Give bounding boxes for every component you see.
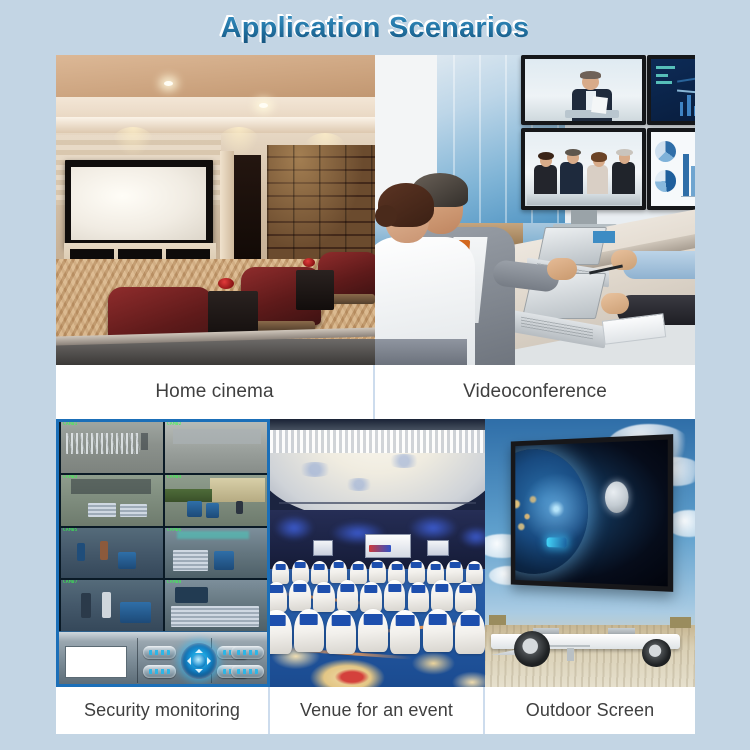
scenario-image-security-monitoring[interactable]: CAM01 CAM02 (56, 419, 270, 687)
cctv-timestamp: CAM06 (167, 529, 182, 534)
ceiling-medallion (386, 454, 422, 468)
caption-row-top: Home cinema Videoconference (56, 365, 695, 419)
screen-remote-group (525, 132, 642, 206)
seat-sign (364, 585, 377, 593)
seat-sign (411, 562, 422, 568)
moon-graphic (605, 481, 629, 513)
scenario-row-top (56, 55, 695, 365)
scenario-image-home-cinema[interactable] (56, 55, 375, 365)
banquet-chair (326, 610, 356, 654)
videoconference-photo (375, 55, 695, 365)
outdoor-screen-photo (485, 419, 695, 687)
monitor-bezel (56, 419, 270, 687)
cctv-timestamp: CAM04 (167, 476, 182, 481)
attendee-torso (587, 165, 608, 196)
ceiling-medallion (343, 478, 375, 491)
attendee-hair (616, 149, 632, 156)
seat-sign (450, 562, 461, 568)
seat-sign (270, 585, 283, 593)
chart-axis (681, 196, 695, 197)
seat-sign (295, 562, 306, 568)
banquet-chair (408, 560, 425, 583)
banquet-chair (311, 561, 328, 584)
cctv-timestamp: CAM08 (167, 581, 182, 586)
seat-sign (275, 564, 286, 570)
screen-presenter (525, 59, 642, 121)
scenario-image-venue-for-an-event[interactable] (270, 419, 485, 687)
security-monitoring-photo: CAM01 CAM02 (56, 419, 270, 687)
banquet-chair (289, 580, 311, 611)
caption-venue-for-an-event: Venue for an event (270, 687, 485, 734)
laptop-screen-highlight (593, 231, 615, 243)
banquet-chair (337, 580, 359, 611)
projection-screen (71, 167, 206, 240)
banquet-chair (270, 610, 292, 654)
woman-hair-bun (375, 205, 397, 227)
banquet-chair (272, 561, 289, 584)
caption-row-bottom: Security monitoring Venue for an event O… (56, 687, 695, 734)
ceiling-truss-strip (270, 419, 485, 430)
led-display-cabinet (511, 434, 673, 592)
attendee-torso (560, 162, 583, 196)
screen-data-dashboard (651, 59, 695, 121)
remote-table (527, 194, 639, 204)
screen-trailer (491, 615, 680, 669)
pie-chart (655, 141, 676, 162)
seat-sign (332, 615, 351, 626)
poster-root: Application Scenarios (0, 0, 750, 750)
scenario-image-videoconference[interactable] (375, 55, 695, 365)
ceiling-downlight (259, 103, 268, 108)
ceiling-medallion (296, 462, 334, 477)
trailer-wheel (514, 631, 550, 667)
seat-sign (341, 584, 354, 592)
seat-sign (392, 564, 403, 570)
page-title: Application Scenarios (0, 12, 750, 45)
trailer-rail (548, 645, 590, 647)
data-trend-line (677, 90, 695, 95)
seat-sign (388, 584, 401, 592)
earth-graphic (515, 447, 588, 576)
banquet-chair (360, 582, 382, 613)
seat-sign (293, 584, 306, 592)
side-table (296, 270, 334, 310)
ceiling-downlight (164, 81, 173, 86)
cctv-timestamp: CAM07 (63, 581, 78, 586)
scenario-grid: Home cinema Videoconference CAM01 (56, 55, 695, 734)
data-label (656, 74, 668, 77)
caption-videoconference: Videoconference (375, 365, 695, 419)
wall-wash-glow (112, 127, 154, 157)
scenario-image-outdoor-screen[interactable] (485, 419, 695, 687)
man-hand (547, 258, 577, 280)
seat-sign (469, 564, 480, 570)
data-bar (680, 102, 684, 116)
rose-bouquet (218, 278, 234, 289)
seat-sign (299, 614, 318, 625)
trailer-wheel (642, 639, 670, 667)
seat-sign (435, 584, 448, 592)
woman-trousers (375, 339, 467, 365)
attendee-torso (534, 165, 556, 196)
seat-sign (372, 562, 383, 568)
rose-bouquet (303, 258, 315, 267)
seat-sign (396, 615, 415, 626)
video-wall-monitor-presenter (521, 55, 646, 125)
data-bar (687, 95, 691, 116)
banquet-chair (455, 582, 477, 613)
caption-home-cinema: Home cinema (56, 365, 375, 419)
trailer-jack (567, 648, 575, 661)
seat-sign (459, 585, 472, 593)
home-cinema-photo (56, 55, 375, 365)
data-label (656, 66, 675, 69)
video-wall-monitor-group (521, 128, 646, 210)
attendee-torso (612, 162, 635, 196)
banquet-chair (466, 561, 483, 584)
presenter-paper (591, 97, 608, 115)
banquet-chair (313, 582, 335, 613)
banquet-chair (455, 610, 485, 654)
banquet-chair (294, 609, 324, 653)
attendee-right-hand (601, 293, 629, 314)
scenario-row-bottom: CAM01 CAM02 (56, 419, 695, 687)
banquet-chair (358, 609, 388, 653)
caption-security-monitoring: Security monitoring (56, 687, 270, 734)
foreground-rail (56, 339, 375, 365)
led-display-content (515, 439, 667, 586)
presenter-hair (580, 71, 601, 79)
data-label (656, 81, 672, 84)
caption-outdoor-screen: Outdoor Screen (485, 687, 695, 734)
wall-pillar (220, 151, 234, 263)
banquet-chair (270, 582, 287, 613)
seat-sign (333, 562, 344, 568)
banquet-chair (408, 582, 430, 613)
data-trend-line (677, 75, 695, 82)
data-bar (694, 106, 695, 116)
cctv-timestamp: CAM02 (167, 423, 182, 428)
room-door (234, 155, 261, 260)
video-wall-monitor-charts (647, 128, 695, 210)
banquet-chair (431, 580, 453, 611)
banquet-chair (390, 610, 420, 654)
seat-sign (461, 615, 480, 626)
satellite-graphic (546, 537, 566, 547)
projection-screen-frame (65, 160, 213, 248)
stage-screen-logo (369, 545, 391, 552)
attendee-hair (591, 152, 607, 162)
seat-sign (314, 564, 325, 570)
seat-sign (430, 564, 441, 570)
screen-charts (651, 132, 695, 206)
seat-sign (364, 614, 383, 625)
pie-chart (655, 170, 676, 191)
bar (691, 166, 695, 196)
cctv-timestamp: CAM03 (63, 476, 78, 481)
seat-sign (353, 564, 364, 570)
banquet-chair (369, 560, 386, 583)
banquet-chair (384, 580, 406, 611)
seat-sign (270, 615, 286, 626)
seat-sign (317, 585, 330, 593)
bar (683, 154, 689, 195)
chair-rows (270, 558, 485, 687)
banquet-chair (446, 560, 463, 583)
seat-sign (412, 585, 425, 593)
video-wall-monitor-data (647, 55, 695, 125)
cctv-timestamp: CAM01 (63, 423, 78, 428)
banquet-chair (423, 609, 453, 653)
seat-sign (428, 614, 447, 625)
wood-slat-wall (267, 145, 375, 267)
cctv-timestamp: CAM05 (63, 529, 78, 534)
truss-line (279, 502, 477, 504)
venue-photo (270, 419, 485, 687)
stage-side-screen (427, 540, 449, 556)
stage-side-screen (313, 540, 333, 556)
